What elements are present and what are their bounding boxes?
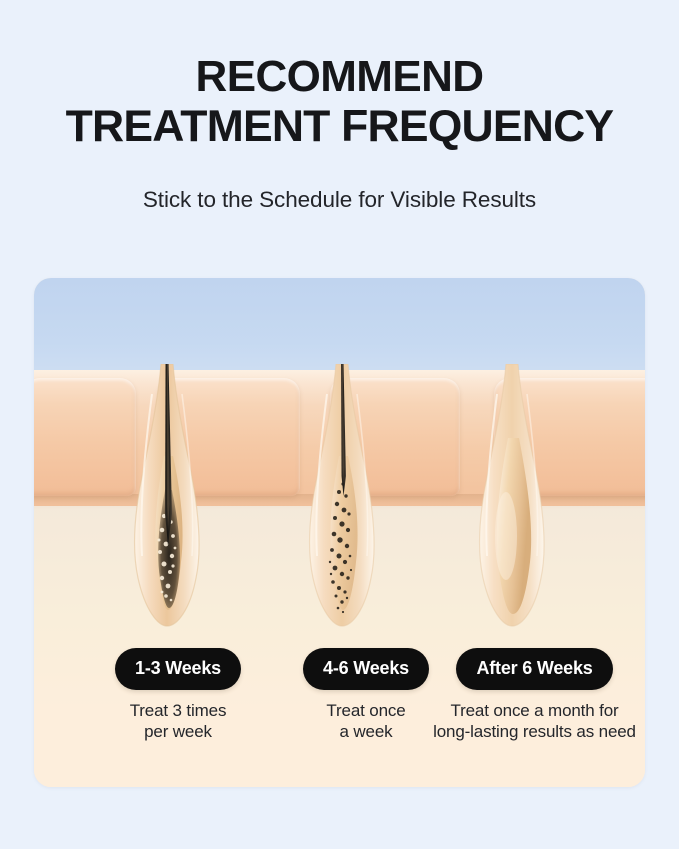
status-badge-weeks-4-6: 4-6 Weeks (303, 648, 429, 690)
follicle-empty (457, 364, 567, 654)
page-title-line-2: TREATMENT FREQUENCY (0, 102, 679, 152)
treatment-schedule-legend: 1-3 Weeks Treat 3 times per week 4-6 Wee… (34, 648, 645, 758)
status-badge-after-6-weeks: After 6 Weeks (456, 648, 612, 690)
status-badge-weeks-1-3: 1-3 Weeks (115, 648, 241, 690)
schedule-step-3: After 6 Weeks Treat once a month for lon… (424, 648, 645, 742)
follicle-thinning-hair (287, 364, 397, 654)
caption-line: long-lasting results as need (424, 721, 645, 742)
page-title: RECOMMEND TREATMENT FREQUENCY (0, 52, 679, 152)
page-subtitle: Stick to the Schedule for Visible Result… (0, 186, 679, 214)
follicle-full-hair (112, 364, 222, 654)
infographic-page: RECOMMEND TREATMENT FREQUENCY Stick to t… (0, 0, 679, 849)
page-title-line-1: RECOMMEND (0, 52, 679, 102)
caption-line: Treat once a month for (424, 700, 645, 721)
schedule-step-3-caption: Treat once a month for long-lasting resu… (424, 700, 645, 742)
